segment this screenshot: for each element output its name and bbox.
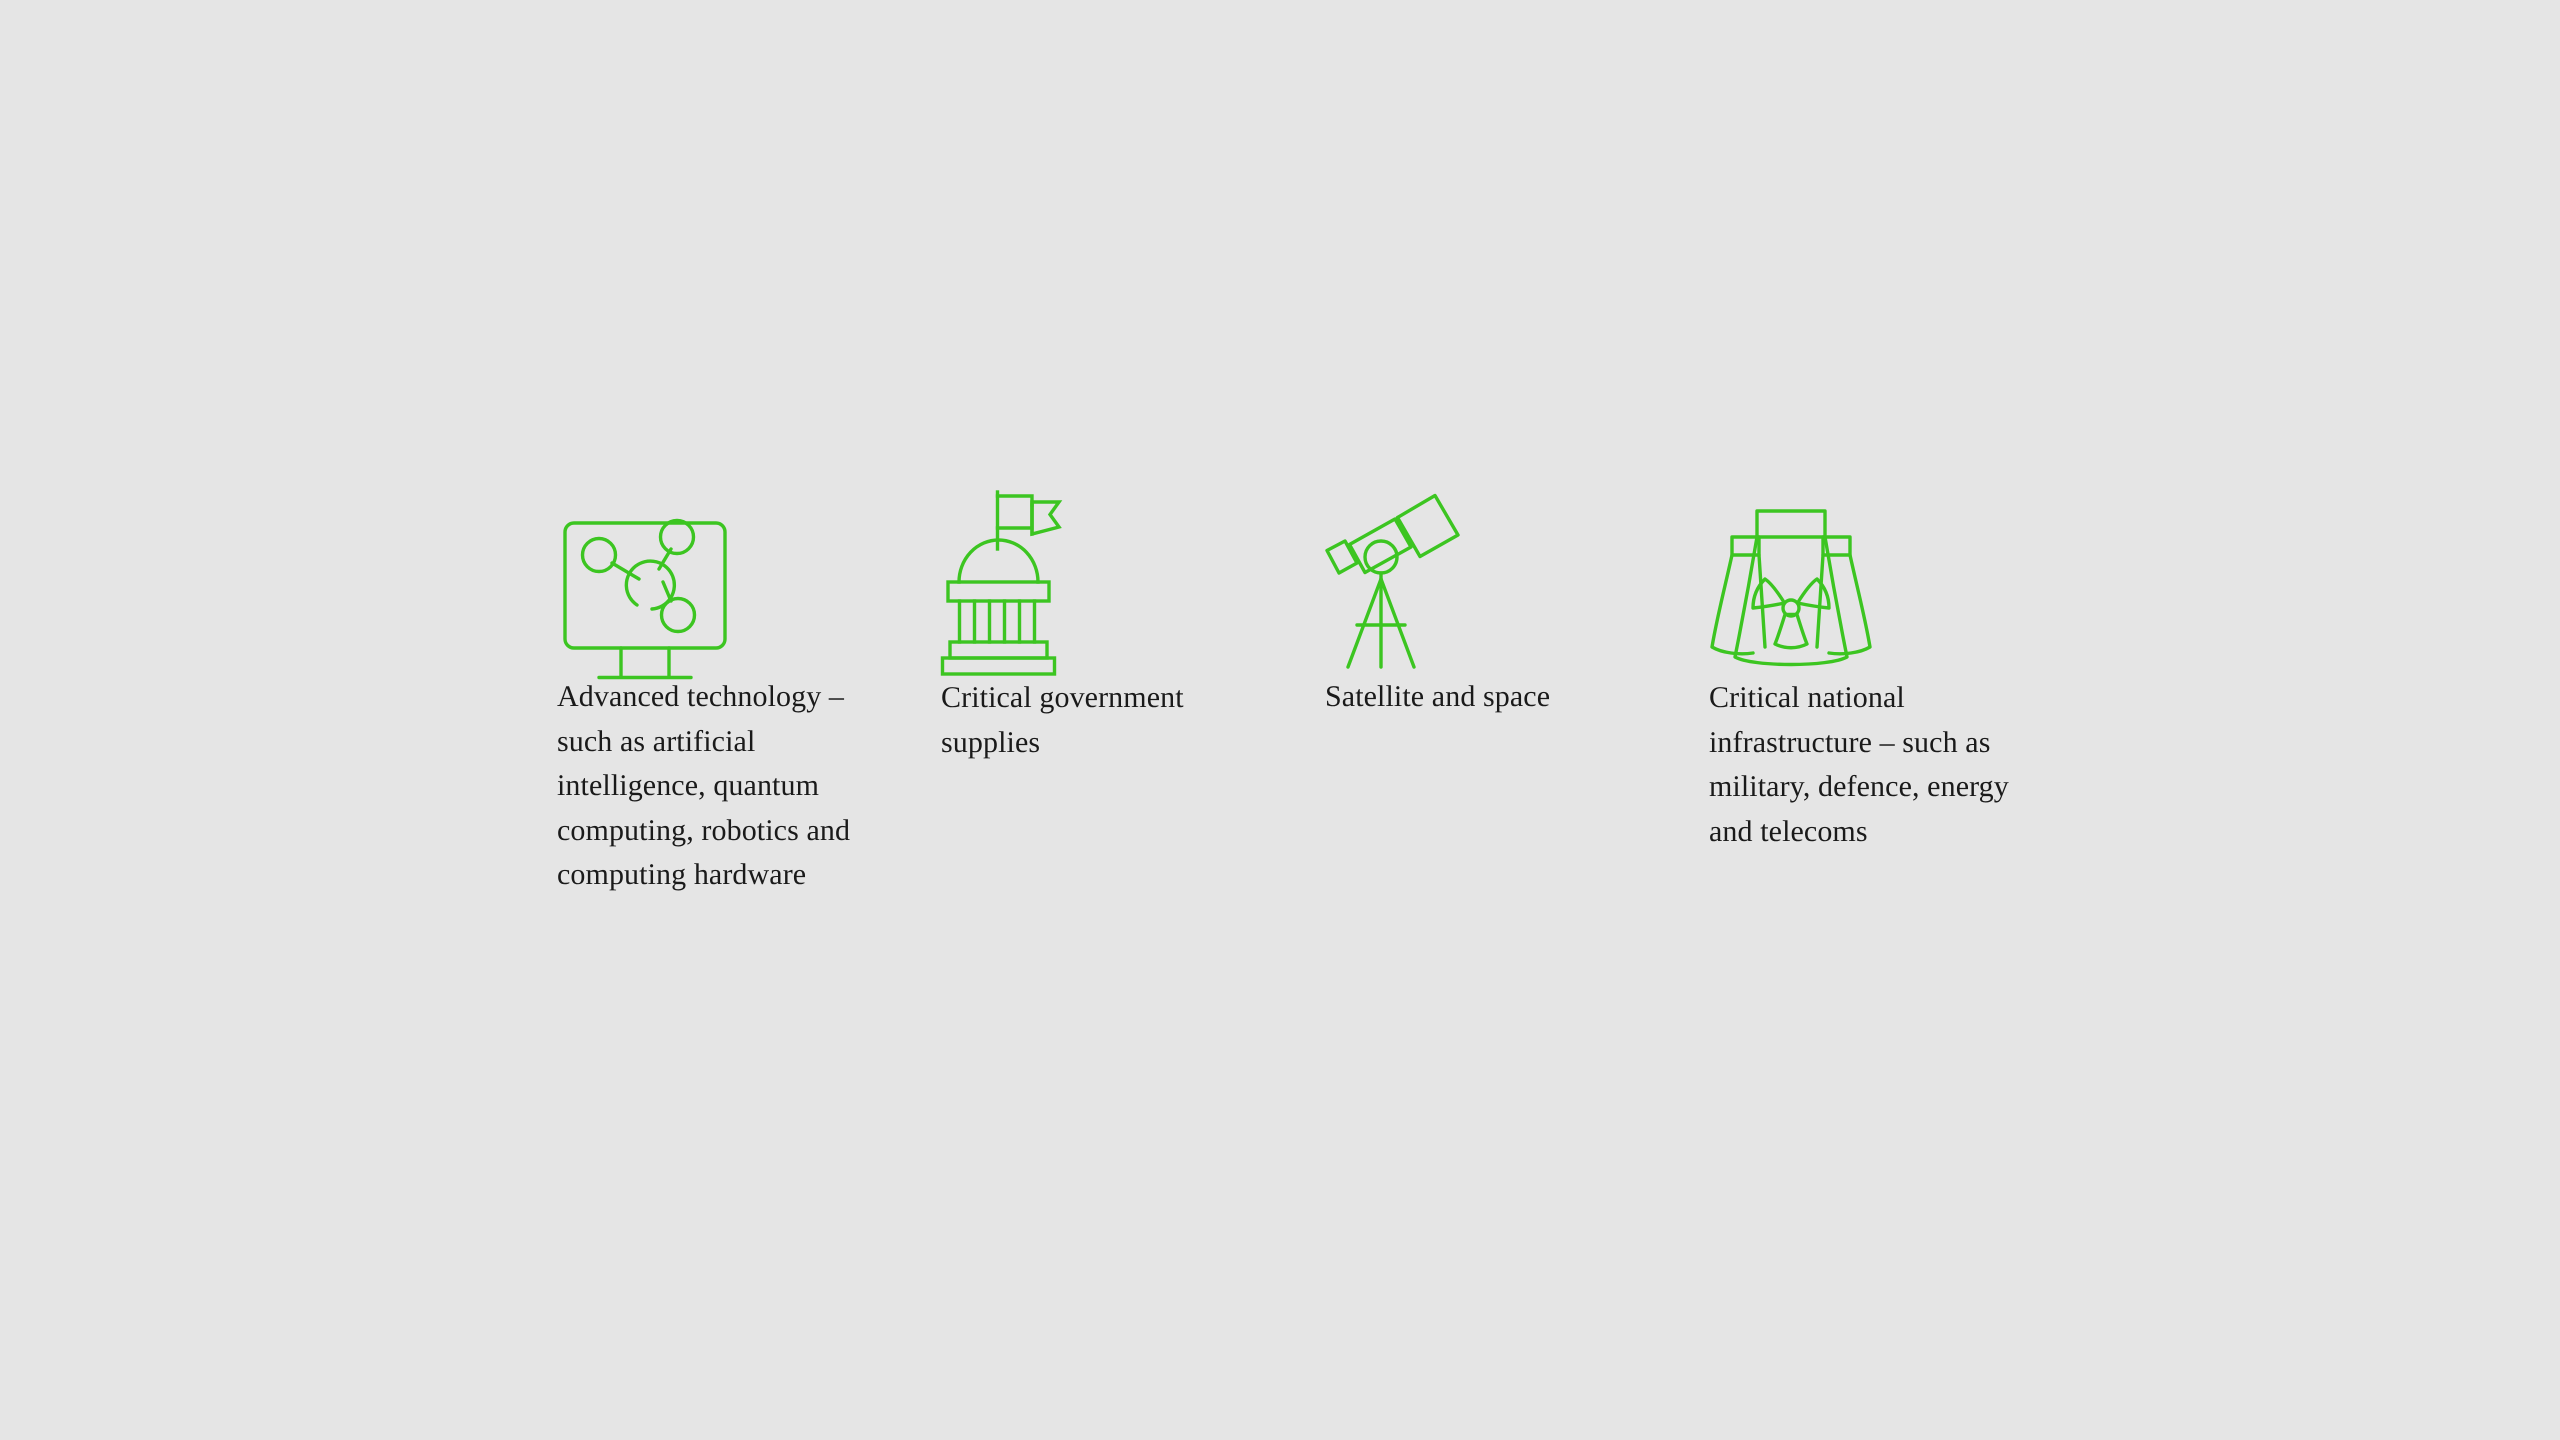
sector-caption: Satellite and space bbox=[1325, 675, 1550, 720]
sector-item-advanced-technology: Advanced technology – such as artificial… bbox=[557, 487, 867, 898]
sector-item-critical-government-supplies: Critical government supplies bbox=[941, 487, 1251, 765]
nuclear-power-plant-icon bbox=[1709, 487, 1889, 677]
sector-caption: Critical government supplies bbox=[941, 676, 1251, 765]
sector-list: Advanced technology – such as artificial… bbox=[557, 487, 2077, 987]
telescope-icon bbox=[1325, 487, 1505, 675]
sector-item-critical-national-infrastructure: Critical national infrastructure – such … bbox=[1709, 487, 2019, 854]
sector-caption: Critical national infrastructure – such … bbox=[1709, 676, 2019, 854]
page-canvas: Advanced technology – such as artificial… bbox=[0, 0, 2560, 1440]
sector-item-satellite-and-space: Satellite and space bbox=[1325, 487, 1635, 720]
computer-network-icon bbox=[559, 487, 739, 669]
government-building-icon bbox=[942, 487, 1122, 676]
sector-caption: Advanced technology – such as artificial… bbox=[557, 675, 867, 898]
